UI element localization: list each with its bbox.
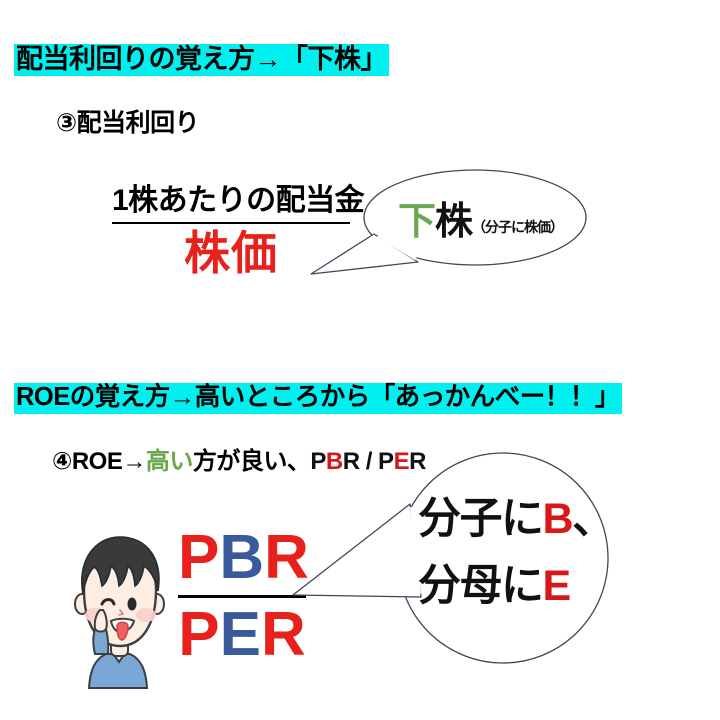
roe-bubble-line1-letter: B — [543, 495, 573, 543]
slide-canvas: 配当利回りの覚え方→「下株」 ③配当利回り 1株あたりの配当金 株価 下株（分子… — [0, 0, 720, 720]
roe-bubble-line1-black: 分子に — [418, 495, 543, 543]
blush-right — [136, 608, 156, 622]
per-letter-1: P — [178, 600, 219, 669]
pbr-letter-2: B — [219, 523, 264, 592]
roe-bubble-line1-comma: 、 — [572, 495, 614, 543]
bubble-note: （分子に株価） — [472, 219, 563, 235]
roe-subline-prefix: ④ROE→ — [52, 448, 146, 475]
roe-bubble-line2-letter: E — [543, 562, 570, 610]
roe-subline-green: 高い — [146, 448, 193, 475]
roe-heading: ROEの覚え方→高いところから「あっかんべー！！」 — [14, 383, 622, 414]
roe-bubble-line2-black: 分母に — [418, 562, 543, 610]
dividend-yield-heading: 配当利回りの覚え方→「下株」 — [14, 44, 389, 76]
roe-bubble-text: 分子にB、 分母にE — [418, 486, 614, 619]
pbr-letter-1: P — [178, 523, 219, 592]
boy-akanbe-illustration — [62, 528, 178, 694]
bubble-tail — [293, 504, 421, 597]
per-letter-2: E — [220, 600, 261, 669]
bubble-kanji-kabu: 株 — [435, 201, 472, 243]
eye-right — [128, 598, 137, 611]
dividend-bubble-text: 下株（分子に株価） — [398, 190, 563, 245]
dividend-yield-subline: ③配当利回り — [56, 103, 199, 139]
roe-bubble-line-1: 分子にB、 — [418, 486, 614, 553]
roe-bubble-line-2: 分母にE — [418, 553, 614, 620]
bubble-kanji-shita: 下 — [398, 201, 435, 243]
hand-finger — [95, 610, 107, 632]
